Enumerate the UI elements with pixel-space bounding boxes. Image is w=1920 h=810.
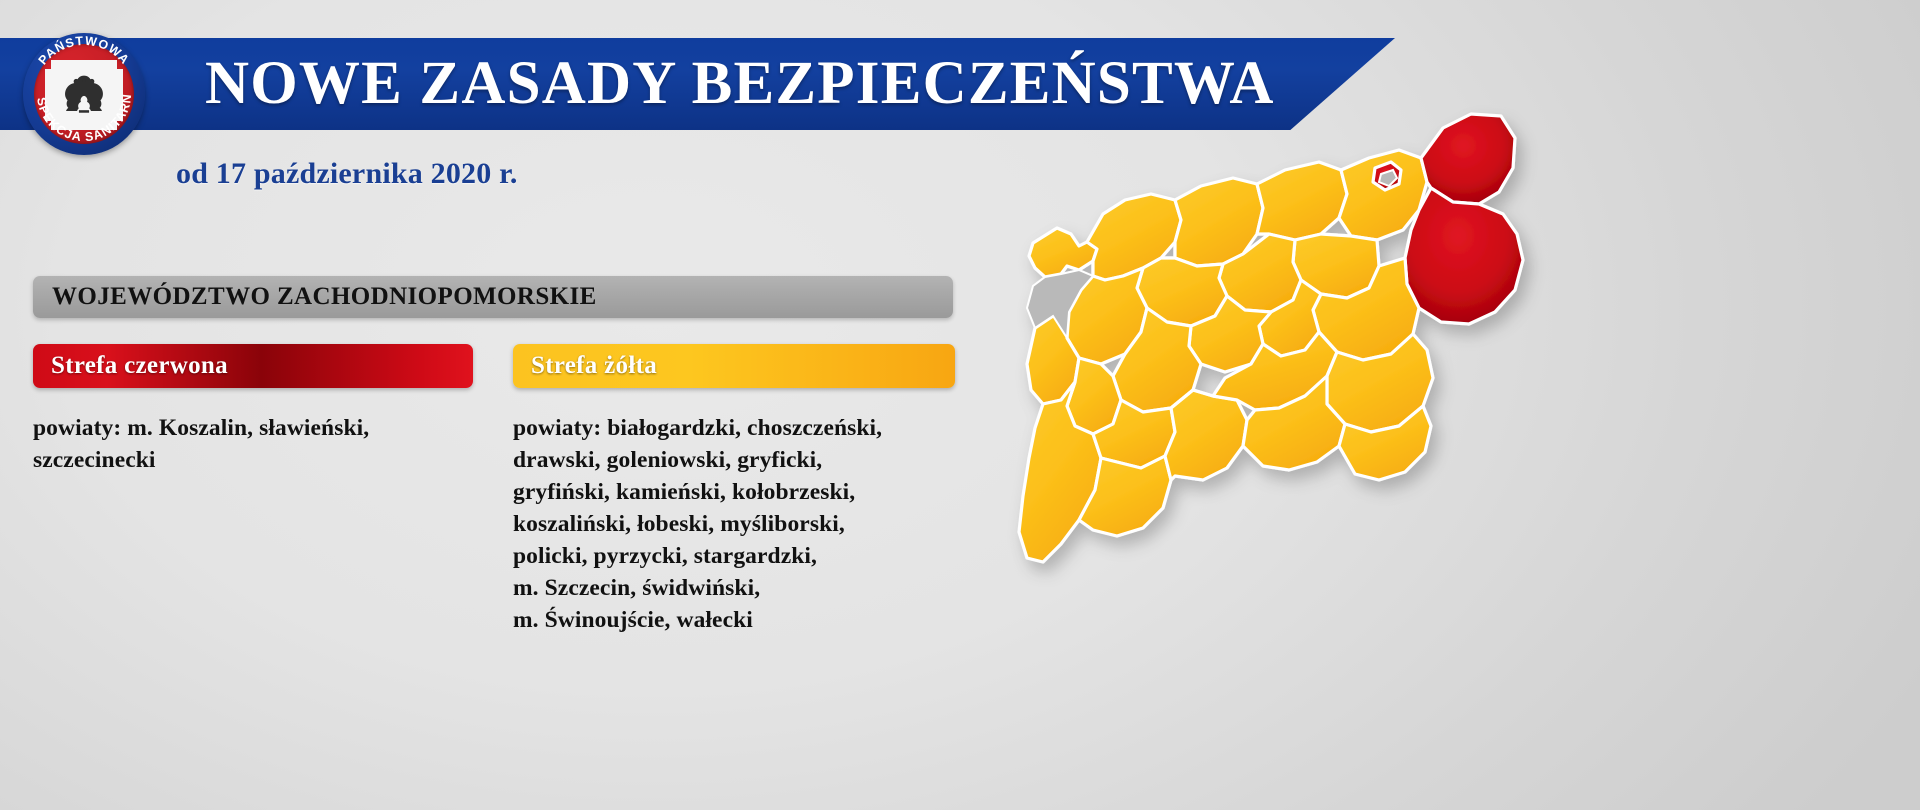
zone-yellow-label: Strefa żółta <box>531 352 657 380</box>
zone-yellow-header: Strefa żółta <box>513 344 955 388</box>
zone-yellow-county-list: powiaty: białogardzki, choszczeński, dra… <box>513 412 955 636</box>
effective-date-subtitle: od 17 października 2020 r. <box>176 157 518 191</box>
voivodeship-bar: WOJEWÓDZTWO ZACHODNIOPOMORSKIE <box>33 276 953 318</box>
zone-yellow-line: powiaty: białogardzki, choszczeński, <box>513 412 955 444</box>
zone-red-label: Strefa czerwona <box>51 352 228 380</box>
county-swinoujscie <box>1029 228 1097 277</box>
zone-yellow-line: m. Szczecin, świdwiński, <box>513 572 955 604</box>
zone-yellow-line: m. Świnoujście, wałecki <box>513 604 955 636</box>
panstwowa-inspekcja-sanitarna-logo: PAŃSTWOWA INSPEKCJA SANITARNA <box>23 33 145 155</box>
zone-yellow-line: gryfiński, kamieński, kołobrzeski, <box>513 476 955 508</box>
zone-red: Strefa czerwona powiaty: m. Koszalin, sł… <box>33 344 473 476</box>
zone-red-county-list: powiaty: m. Koszalin, sławieński, szczec… <box>33 412 473 476</box>
zone-red-line: szczecinecki <box>33 444 473 476</box>
zachodniopomorskie-county-map <box>975 28 1575 668</box>
county-szczecinecki <box>1405 188 1523 324</box>
zone-yellow: Strefa żółta powiaty: białogardzki, chos… <box>513 344 955 636</box>
zone-red-line: powiaty: m. Koszalin, sławieński, <box>33 412 473 444</box>
zone-yellow-line: drawski, goleniowski, gryficki, <box>513 444 955 476</box>
zone-red-header: Strefa czerwona <box>33 344 473 388</box>
logo-top-text: PAŃSTWOWA <box>36 34 133 68</box>
county-kolobrzeski <box>1257 162 1347 240</box>
zone-yellow-line: koszaliński, łobeski, myśliborski, <box>513 508 955 540</box>
voivodeship-label: WOJEWÓDZTWO ZACHODNIOPOMORSKIE <box>52 283 597 311</box>
zone-yellow-line: policki, pyrzycki, stargardzki, <box>513 540 955 572</box>
